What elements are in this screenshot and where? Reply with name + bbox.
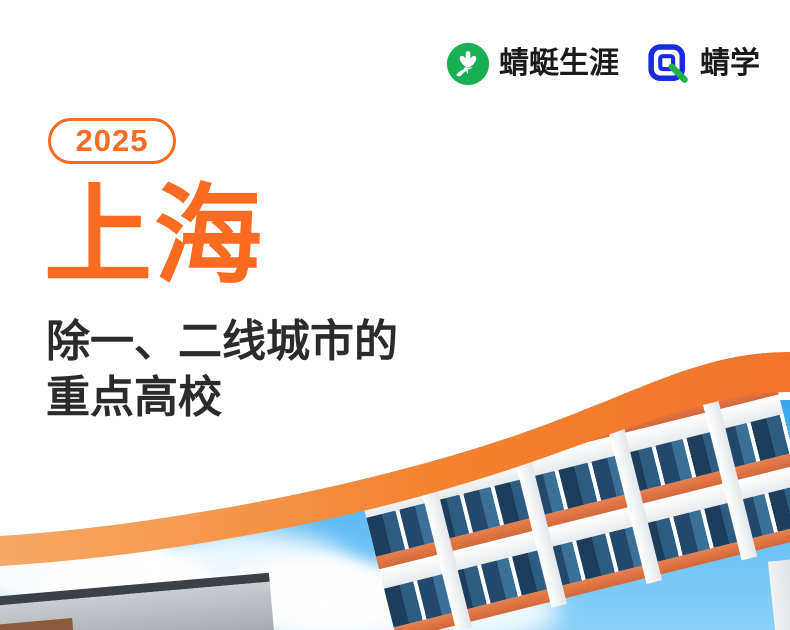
page-title: 上海 xyxy=(44,183,264,291)
cloud-shape xyxy=(175,478,305,518)
year-badge: 2025 xyxy=(48,118,176,164)
subtitle-line-2: 重点高校 xyxy=(46,370,398,426)
logo-label: 蜻蜓生涯 xyxy=(499,49,619,79)
logo-row: 蜻蜓生涯 蜻学 xyxy=(446,42,760,86)
qingxue-q-icon xyxy=(647,42,691,86)
poster-canvas: 蜻蜓生涯 蜻学 2025 上海 除一、二线城市的 重点高校 xyxy=(0,0,790,630)
logo-qingting-shengya[interactable]: 蜻蜓生涯 xyxy=(446,42,619,86)
page-subtitle: 除一、二线城市的 重点高校 xyxy=(46,314,398,427)
qingting-shengya-leaf-icon xyxy=(446,42,490,86)
logo-qingxue[interactable]: 蜻学 xyxy=(647,42,760,86)
subtitle-line-1: 除一、二线城市的 xyxy=(46,314,398,370)
logo-label: 蜻学 xyxy=(700,49,760,79)
